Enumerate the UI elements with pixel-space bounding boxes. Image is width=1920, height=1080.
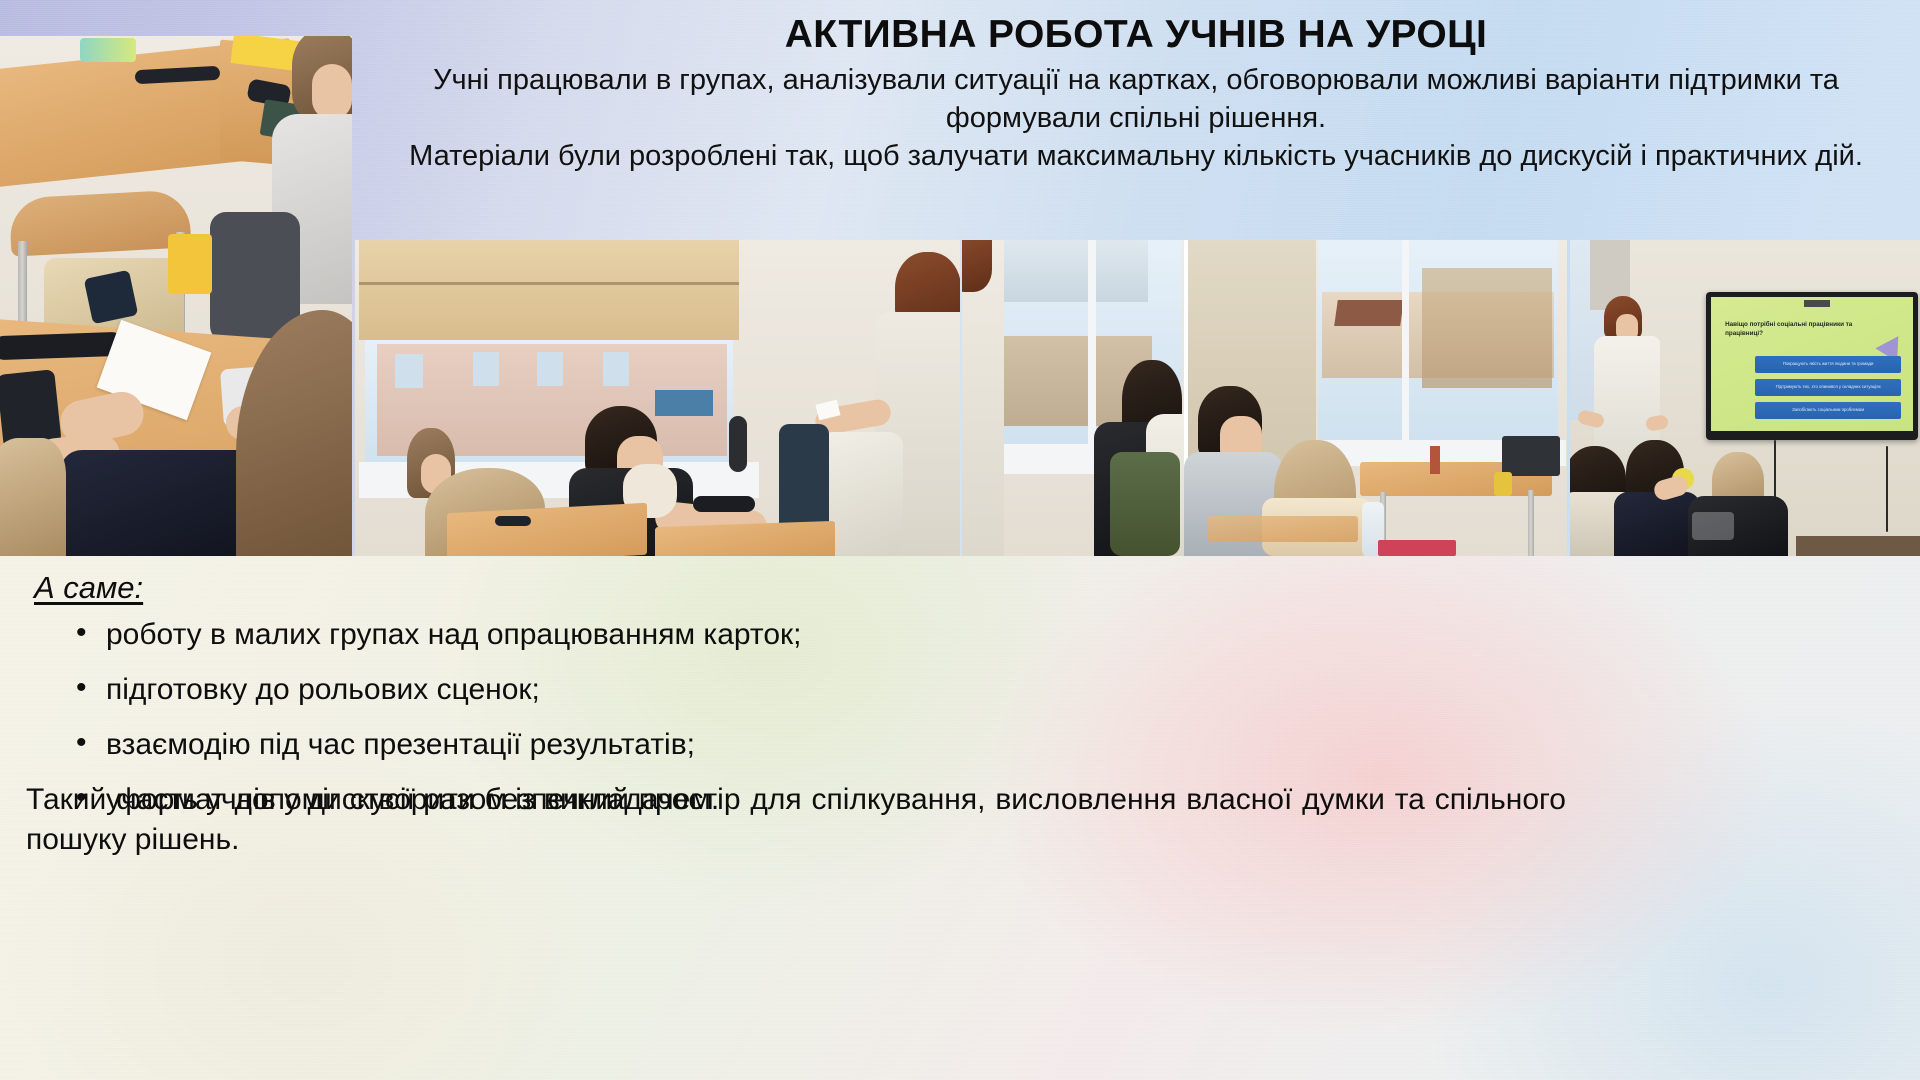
- tv-slide-option-2: Підтримують тих, хто опинився у складних…: [1755, 379, 1900, 396]
- photo-4-bench: [1796, 536, 1920, 556]
- photo-1-canvas: [0, 36, 352, 556]
- photo-2-desk-right: [655, 521, 835, 556]
- tv-screen-content: Навіщо потрібні соціальні працівники та …: [1711, 297, 1913, 431]
- photo-2-pencil-case: [693, 496, 755, 512]
- photo-3-cup: [1494, 472, 1512, 496]
- header-paragraph-1: Учні працювали в групах, аналізували сит…: [356, 62, 1916, 137]
- photo-3-teacher-hair: [962, 240, 992, 292]
- photo-students-working-at-desks: [0, 36, 352, 556]
- photo-3-desk-front: [1208, 516, 1358, 542]
- photo-teacher-presenting-slide: Навіщо потрібні соціальні працівники та …: [1570, 240, 1920, 556]
- photo-3-window-mullion: [1088, 240, 1096, 452]
- photo-2-window-outside-3: [537, 352, 563, 386]
- list-item: підготовку до рольових сценок;: [72, 675, 1552, 705]
- photo-3-student-e-top: [1110, 452, 1180, 556]
- photo-4-cable-1: [1774, 440, 1776, 498]
- photo-2-phone: [495, 516, 531, 526]
- body-content-area: А саме: роботу в малих групах над опрацю…: [0, 556, 1920, 1080]
- photo-4-cable-2: [1886, 446, 1888, 532]
- photo-4-canvas: Навіщо потрібні соціальні працівники та …: [1570, 240, 1920, 556]
- photo-2-canvas: [355, 240, 960, 556]
- photo-2-window-outside-1: [395, 354, 423, 388]
- photo-1-snack-bag: [80, 38, 136, 62]
- photo-1-chair-back: [9, 189, 192, 256]
- tv-display: Навіщо потрібні соціальні працівники та …: [1706, 292, 1918, 440]
- photo-1-hair-left: [0, 438, 66, 556]
- photo-4-shirt-print: [1692, 512, 1734, 540]
- photo-1-phone-b: [0, 369, 62, 449]
- photo-1-backpack-print: [84, 270, 139, 325]
- photo-3-canvas: [962, 240, 1567, 556]
- list-item: роботу в малих групах над опрацюванням к…: [72, 620, 1552, 650]
- photo-1-yellow-item: [168, 234, 212, 294]
- photo-2-window-outside-2: [473, 352, 499, 386]
- photo-2-roman-blind: [359, 240, 739, 340]
- tv-slide-option-3: Запобігають соціальним проблемам: [1755, 402, 1900, 419]
- tv-brand-logo-icon: [1804, 300, 1830, 307]
- photo-3-roof: [1334, 300, 1404, 326]
- photo-1-pencil-case-2: [0, 332, 124, 361]
- closing-paragraph: Такий формат допоміг створити безпечний …: [26, 780, 1566, 860]
- page-title: АКТИВНА РОБОТА УЧНІВ НА УРОЦІ: [356, 14, 1916, 56]
- photo-2-thermos: [729, 416, 747, 472]
- photo-2-desk-left: [447, 503, 647, 556]
- photo-1-navy-sleeve: [60, 450, 260, 556]
- photo-2-window-outside-4: [603, 352, 629, 386]
- photo-2-blind-fold: [359, 282, 739, 285]
- photo-3-desk-leg-2: [1528, 490, 1534, 556]
- header-description: Учні працювали в групах, аналізували сит…: [356, 62, 1916, 176]
- photo-3-trees-right: [1422, 268, 1552, 388]
- header-text-block: АКТИВНА РОБОТА УЧНІВ НА УРОЦІ Учні працю…: [356, 14, 1916, 177]
- photo-3-red-book: [1378, 540, 1456, 556]
- photo-3-mullion-right: [1402, 240, 1409, 446]
- photo-3-laptop: [1502, 436, 1560, 476]
- tv-slide-question: Навіщо потрібні соціальні працівники та …: [1725, 320, 1854, 338]
- slide-canvas: АКТИВНА РОБОТА УЧНІВ НА УРОЦІ Учні працю…: [0, 0, 1920, 1080]
- photo-2-shop-sign: [655, 390, 713, 416]
- body-lead-label: А саме:: [34, 570, 143, 606]
- photo-classroom-by-window: [355, 240, 960, 556]
- header-paragraph-2: Матеріали були розроблені так, щоб залуч…: [356, 138, 1916, 176]
- photo-1-student-face: [312, 64, 352, 120]
- tv-slide-option-1: Покращують якість життя людини та громад…: [1755, 356, 1900, 373]
- list-item: взаємодію під час презентації результаті…: [72, 730, 1552, 760]
- photo-students-group-discussion: [962, 240, 1567, 556]
- photo-3-pen-holder: [1430, 446, 1440, 474]
